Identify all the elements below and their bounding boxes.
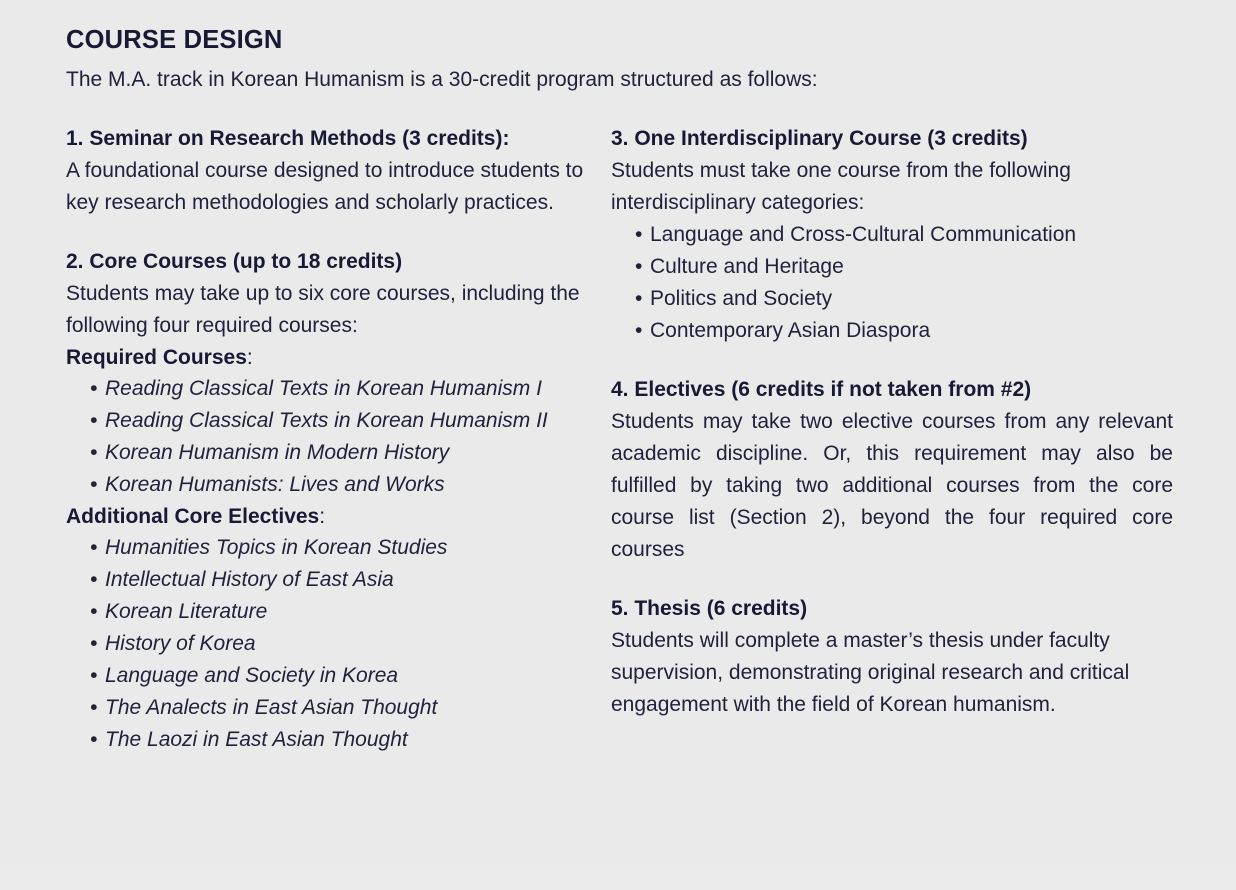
course-design-page: COURSE DESIGN The M.A. track in Korean H… [0, 0, 1236, 890]
section-3-body: Students must take one course from the f… [611, 155, 1173, 219]
list-item: Contemporary Asian Diaspora [611, 315, 1173, 347]
section-thesis: 5. Thesis (6 credits) Students will comp… [611, 593, 1173, 721]
page-title: COURSE DESIGN [66, 26, 1180, 55]
section-electives: 4. Electives (6 credits if not taken fro… [611, 374, 1173, 566]
section-1-body: A foundational course designed to introd… [66, 155, 606, 219]
required-courses-list: Reading Classical Texts in Korean Humani… [66, 373, 606, 501]
right-column: 3. One Interdisciplinary Course (3 credi… [611, 123, 1173, 721]
section-core-courses: 2. Core Courses (up to 18 credits) Stude… [66, 246, 606, 756]
section-2-body: Students may take up to six core courses… [66, 278, 606, 342]
list-item: Korean Humanism in Modern History [66, 437, 606, 469]
section-4-heading: 4. Electives (6 credits if not taken fro… [611, 374, 1173, 405]
list-item: History of Korea [66, 628, 606, 660]
list-item: Intellectual History of East Asia [66, 564, 606, 596]
required-courses-label: Required Courses: [66, 342, 606, 373]
list-item: Language and Cross-Cultural Communicatio… [611, 219, 1173, 251]
list-item: Reading Classical Texts in Korean Humani… [66, 373, 606, 405]
section-3-heading: 3. One Interdisciplinary Course (3 credi… [611, 123, 1173, 154]
two-column-layout: 1. Seminar on Research Methods (3 credit… [66, 123, 1180, 756]
additional-core-electives-list: Humanities Topics in Korean Studies Inte… [66, 532, 606, 756]
list-item: Humanities Topics in Korean Studies [66, 532, 606, 564]
additional-core-electives-label: Additional Core Electives: [66, 501, 606, 532]
section-seminar-research-methods: 1. Seminar on Research Methods (3 credit… [66, 123, 606, 219]
section-5-heading: 5. Thesis (6 credits) [611, 593, 1173, 624]
additional-core-electives-label-colon: : [319, 505, 325, 528]
section-interdisciplinary-course: 3. One Interdisciplinary Course (3 credi… [611, 123, 1173, 347]
interdisciplinary-categories-list: Language and Cross-Cultural Communicatio… [611, 219, 1173, 347]
list-item: Korean Humanists: Lives and Works [66, 469, 606, 501]
list-item: Reading Classical Texts in Korean Humani… [66, 405, 606, 437]
list-item: Language and Society in Korea [66, 660, 606, 692]
additional-core-electives-label-text: Additional Core Electives [66, 505, 319, 528]
required-courses-label-text: Required Courses [66, 346, 247, 369]
list-item: Culture and Heritage [611, 251, 1173, 283]
required-courses-label-colon: : [247, 346, 253, 369]
list-item: The Analects in East Asian Thought [66, 692, 606, 724]
list-item: Politics and Society [611, 283, 1173, 315]
section-2-heading: 2. Core Courses (up to 18 credits) [66, 246, 606, 277]
list-item: The Laozi in East Asian Thought [66, 724, 606, 756]
page-intro-text: The M.A. track in Korean Humanism is a 3… [66, 65, 1180, 95]
left-column: 1. Seminar on Research Methods (3 credit… [66, 123, 606, 756]
section-1-heading: 1. Seminar on Research Methods (3 credit… [66, 123, 606, 154]
section-5-body: Students will complete a master’s thesis… [611, 625, 1173, 721]
section-4-body: Students may take two elective courses f… [611, 406, 1173, 566]
list-item: Korean Literature [66, 596, 606, 628]
